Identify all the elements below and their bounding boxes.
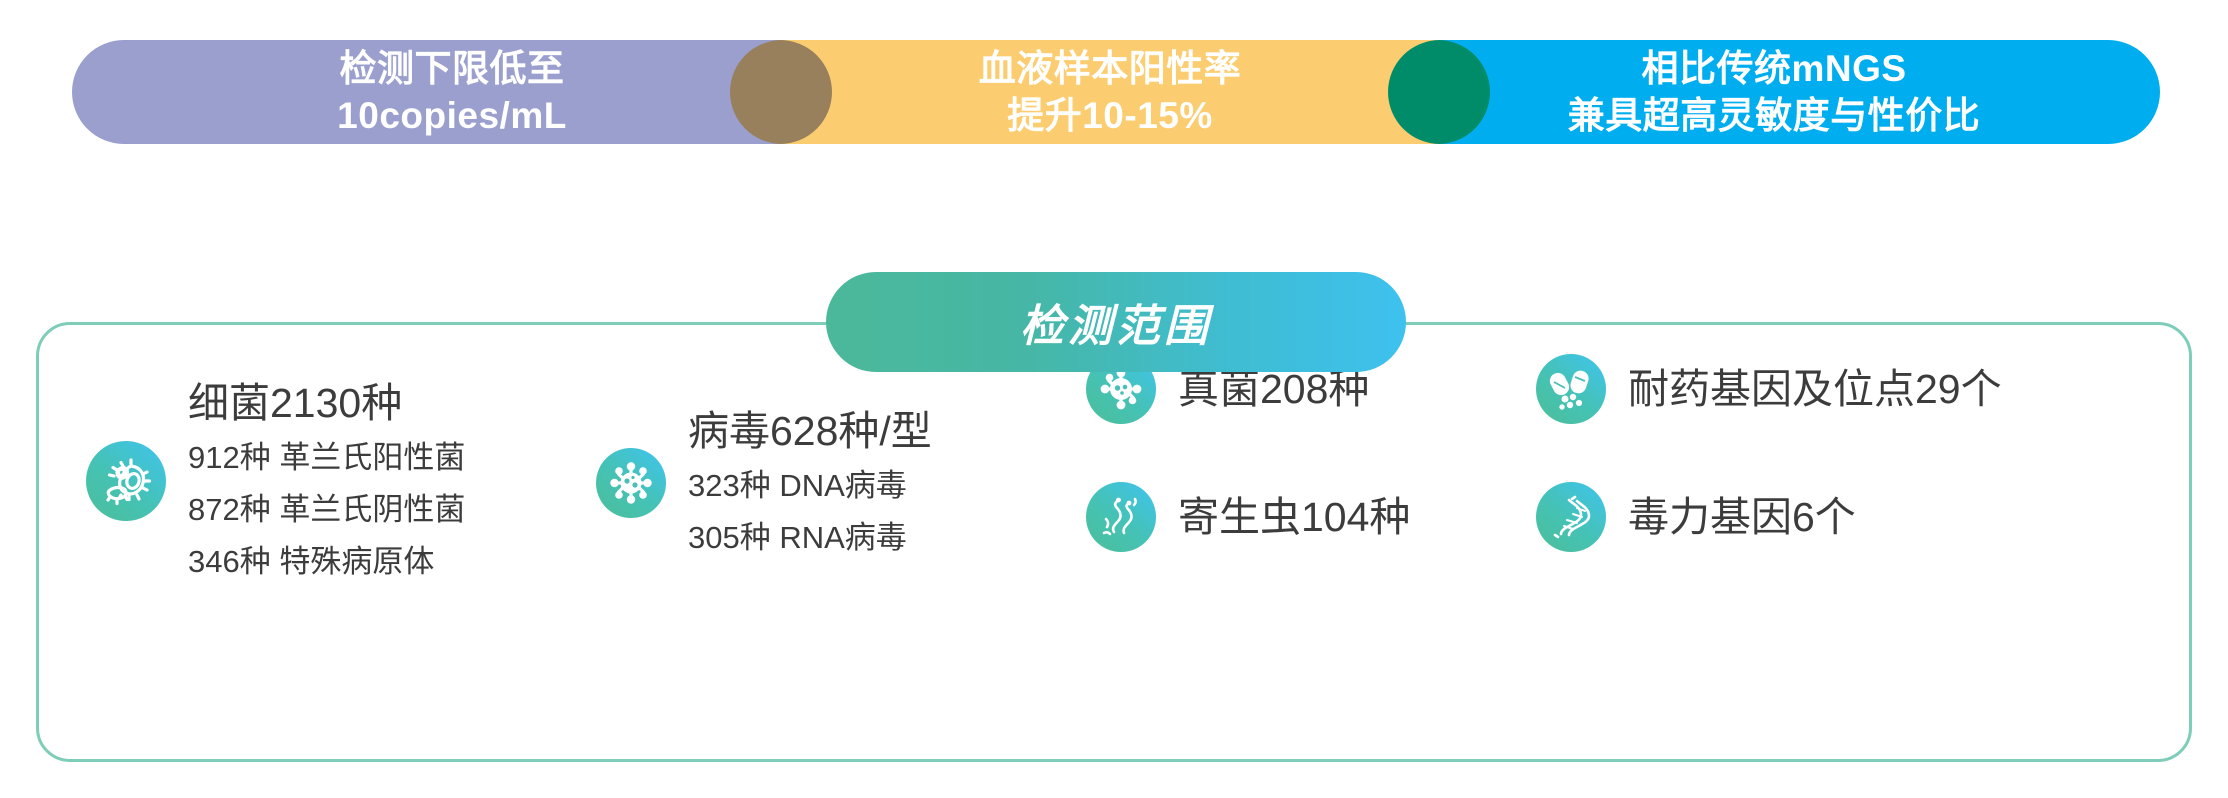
- infographic-root: 检测下限低至 10copies/mL 血液样本阳性率 提升10-15% 相比传统…: [0, 0, 2228, 798]
- group-virus: 病毒628种/型 323种 DNA病毒 305种 RNA病毒: [596, 402, 932, 564]
- group-bacteria-text: 细菌2130种 912种 革兰氏阳性菌 872种 革兰氏阴性菌 346种 特殊病…: [188, 374, 465, 588]
- group-virus-text: 病毒628种/型 323种 DNA病毒 305种 RNA病毒: [688, 402, 932, 564]
- group-title: 毒力基因6个: [1628, 488, 1856, 546]
- parasite-icon: [1086, 482, 1156, 552]
- detection-range-badge: 检测范围: [826, 272, 1406, 372]
- group-title: 寄生虫104种: [1178, 488, 1410, 546]
- group-bacteria: 细菌2130种 912种 革兰氏阳性菌 872种 革兰氏阴性菌 346种 特殊病…: [86, 374, 465, 588]
- group-sub-1: 912种 革兰氏阳性菌: [188, 432, 465, 484]
- group-sub-1: 323种 DNA病毒: [688, 460, 932, 512]
- banner-segment-blood-positive-rate: [730, 40, 1490, 144]
- detection-range-badge-label: 检测范围: [1020, 290, 1212, 354]
- virus-icon: [596, 448, 666, 518]
- group-amr-gene: 耐药基因及位点29个: [1536, 354, 2002, 424]
- group-title: 细菌2130种: [188, 374, 465, 432]
- dna-icon: [1536, 482, 1606, 552]
- group-sub-3: 346种 特殊病原体: [188, 536, 465, 588]
- group-title: 耐药基因及位点29个: [1628, 360, 2002, 418]
- group-sub-2: 305种 RNA病毒: [688, 512, 932, 564]
- group-title: 病毒628种/型: [688, 402, 932, 460]
- bacteria-icon: [86, 441, 166, 521]
- group-amr-gene-text: 耐药基因及位点29个: [1628, 360, 2002, 418]
- detection-range-content: 细菌2130种 912种 革兰氏阳性菌 872种 革兰氏阴性菌 346种 特殊病…: [36, 322, 2192, 762]
- group-virulence-gene: 毒力基因6个: [1536, 482, 1856, 552]
- banner-segment-vs-traditional-mngs: [1388, 40, 2160, 144]
- group-sub-2: 872种 革兰氏阴性菌: [188, 484, 465, 536]
- group-parasite-text: 寄生虫104种: [1178, 488, 1410, 546]
- group-parasite: 寄生虫104种: [1086, 482, 1410, 552]
- group-virulence-gene-text: 毒力基因6个: [1628, 488, 1856, 546]
- banner-segment-detection-limit: [72, 40, 832, 144]
- pill-icon: [1536, 354, 1606, 424]
- feature-banner: 检测下限低至 10copies/mL 血液样本阳性率 提升10-15% 相比传统…: [72, 40, 2160, 144]
